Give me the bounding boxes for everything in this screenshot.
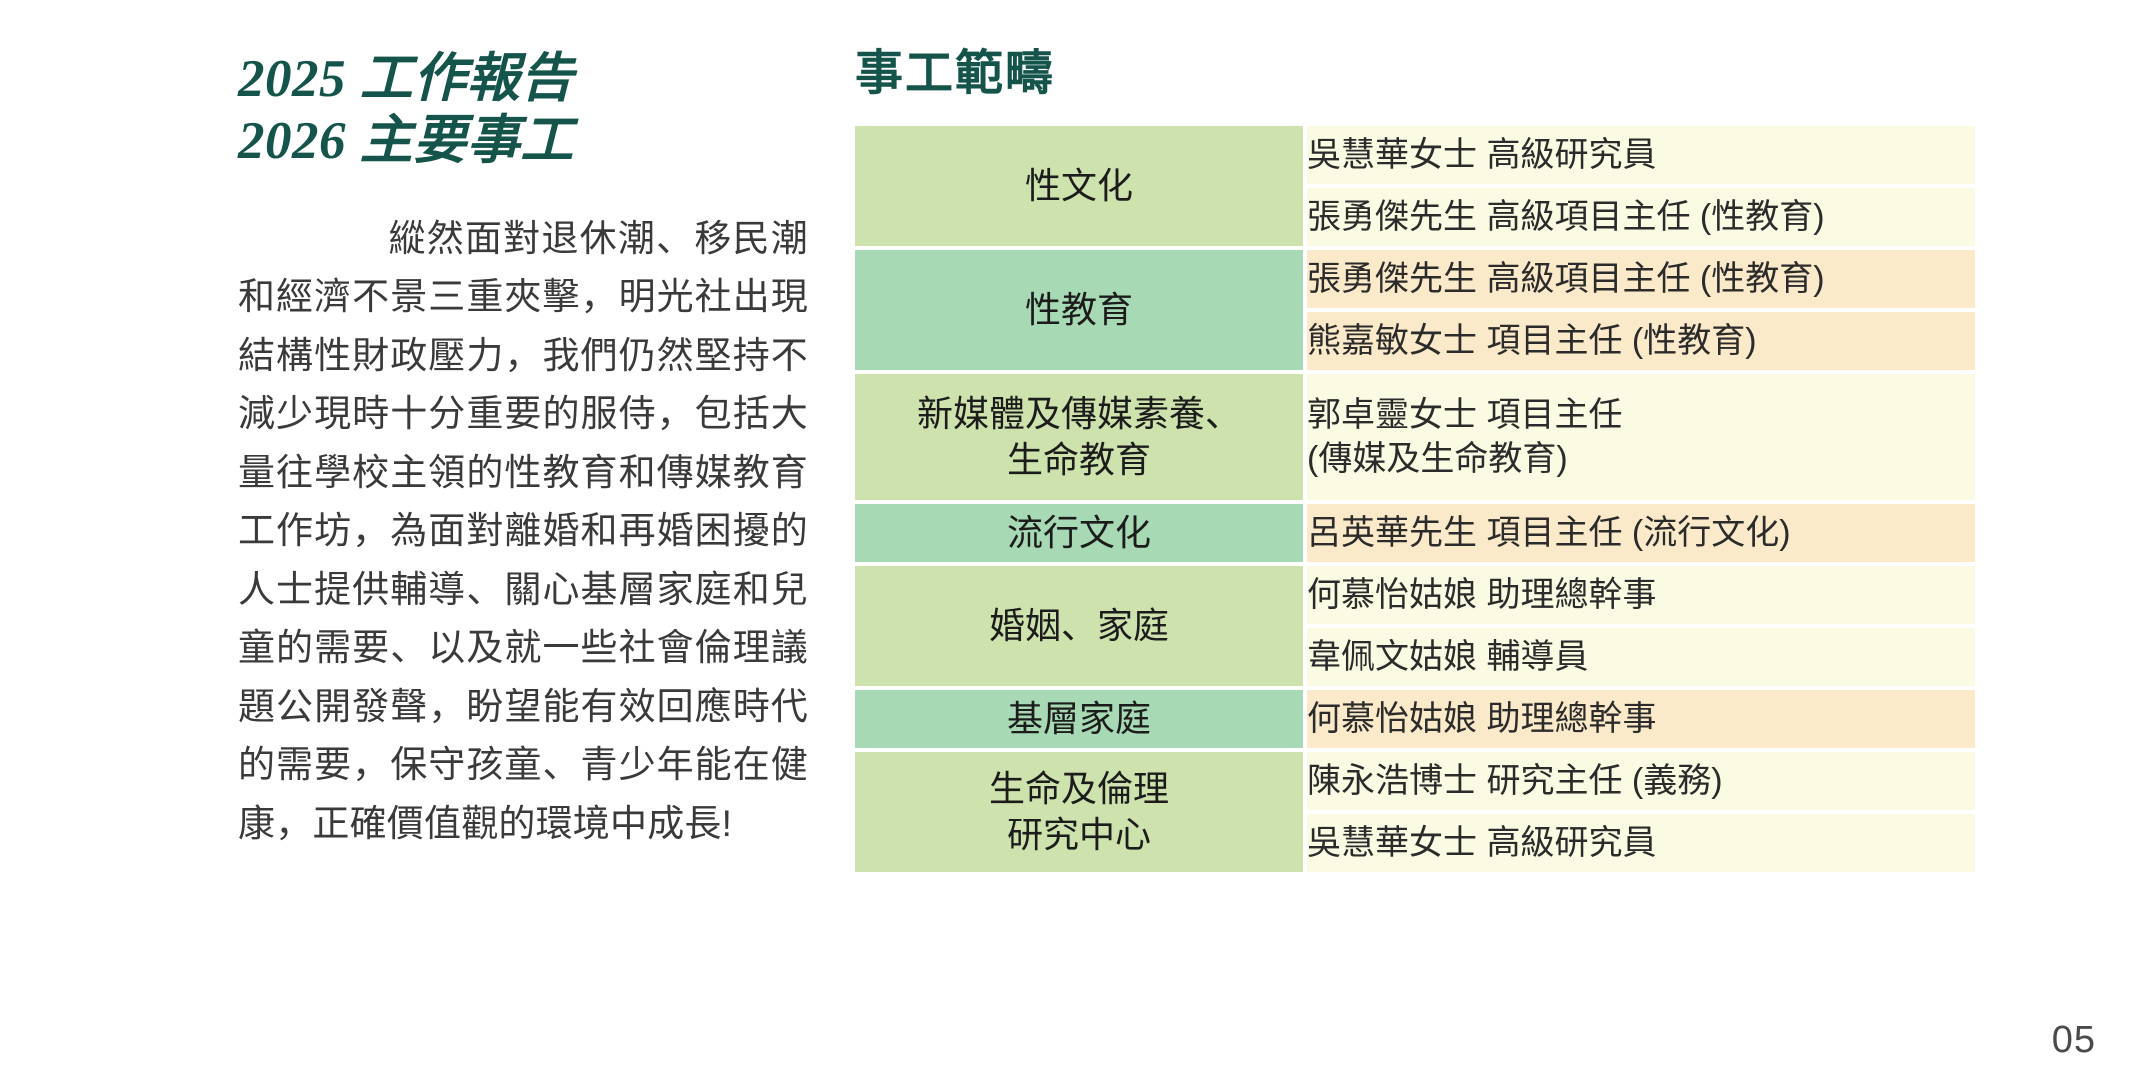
page-title: 2025 工作報告 2026 主要事工 xyxy=(238,48,808,172)
person-name-title: 何慕怡姑娘 助理總幹事 xyxy=(1307,700,1656,738)
section-heading: 事工範疇 xyxy=(855,48,1975,101)
table-row: 流行文化呂英華先生 項目主任 (流行文化) xyxy=(855,504,1975,566)
category-line: 生命及倫理 xyxy=(855,766,1303,812)
table-row: 性文化吳慧華女士 高級研究員 xyxy=(855,126,1975,188)
category-cell: 流行文化 xyxy=(855,504,1307,566)
person-cell: 吳慧華女士 高級研究員 xyxy=(1307,126,1975,188)
table-row: 婚姻、家庭何慕怡姑娘 助理總幹事 xyxy=(855,566,1975,628)
person-name-title: 陳永浩博士 研究主任 (義務) xyxy=(1307,762,1723,800)
ministry-scope-table: 性文化吳慧華女士 高級研究員張勇傑先生 高級項目主任 (性教育)性教育張勇傑先生… xyxy=(855,126,1975,876)
person-name-title: 吳慧華女士 高級研究員 xyxy=(1307,136,1656,174)
person-cell: 吳慧華女士 高級研究員 xyxy=(1307,814,1975,876)
right-column: 事工範疇 性文化吳慧華女士 高級研究員張勇傑先生 高級項目主任 (性教育)性教育… xyxy=(855,48,1975,876)
person-cell: 陳永浩博士 研究主任 (義務) xyxy=(1307,752,1975,814)
category-cell: 基層家庭 xyxy=(855,690,1307,752)
page-title-line-1: 2025 工作報告 xyxy=(238,48,808,110)
person-cell: 熊嘉敏女士 項目主任 (性教育) xyxy=(1307,312,1975,374)
person-name-title: 郭卓靈女士 項目主任 xyxy=(1307,396,1622,434)
person-name-title: 熊嘉敏女士 項目主任 (性教育) xyxy=(1307,322,1757,360)
table-row: 生命及倫理研究中心陳永浩博士 研究主任 (義務) xyxy=(855,752,1975,814)
person-name-title: 吳慧華女士 高級研究員 xyxy=(1307,824,1656,862)
page-title-line-2: 2026 主要事工 xyxy=(238,110,808,172)
person-cell: 張勇傑先生 高級項目主任 (性教育) xyxy=(1307,250,1975,312)
person-name-title: 韋佩文姑娘 輔導員 xyxy=(1307,638,1588,676)
category-line: 新媒體及傳媒素養、 xyxy=(855,391,1303,437)
table-row: 新媒體及傳媒素養、生命教育郭卓靈女士 項目主任(傳媒及生命教育) xyxy=(855,374,1975,504)
category-cell: 新媒體及傳媒素養、生命教育 xyxy=(855,374,1307,504)
person-cell: 韋佩文姑娘 輔導員 xyxy=(1307,628,1975,690)
page-number: 05 xyxy=(2052,1019,2096,1062)
person-cell: 何慕怡姑娘 助理總幹事 xyxy=(1307,566,1975,628)
category-cell: 性教育 xyxy=(855,250,1307,374)
table-row: 基層家庭何慕怡姑娘 助理總幹事 xyxy=(855,690,1975,752)
person-cell: 何慕怡姑娘 助理總幹事 xyxy=(1307,690,1975,752)
person-name-title: 張勇傑先生 高級項目主任 (性教育) xyxy=(1307,198,1825,236)
body-paragraph: 縱然面對退休潮、移民潮和經濟不景三重夾擊，明光社出現結構性財政壓力，我們仍然堅持… xyxy=(238,210,808,853)
person-name-title: 張勇傑先生 高級項目主任 (性教育) xyxy=(1307,260,1825,298)
person-detail: (傳媒及生命教育) xyxy=(1307,437,1975,481)
category-cell: 婚姻、家庭 xyxy=(855,566,1307,690)
table-row: 性教育張勇傑先生 高級項目主任 (性教育) xyxy=(855,250,1975,312)
person-cell: 張勇傑先生 高級項目主任 (性教育) xyxy=(1307,188,1975,250)
category-cell: 性文化 xyxy=(855,126,1307,250)
left-column: 2025 工作報告 2026 主要事工 縱然面對退休潮、移民潮和經濟不景三重夾擊… xyxy=(238,48,808,890)
category-line: 研究中心 xyxy=(855,812,1303,858)
category-cell: 生命及倫理研究中心 xyxy=(855,752,1307,876)
person-name-title: 呂英華先生 項目主任 (流行文化) xyxy=(1307,514,1791,552)
person-cell: 呂英華先生 項目主任 (流行文化) xyxy=(1307,504,1975,566)
person-cell: 郭卓靈女士 項目主任(傳媒及生命教育) xyxy=(1307,374,1975,504)
category-line: 生命教育 xyxy=(855,437,1303,483)
person-name-title: 何慕怡姑娘 助理總幹事 xyxy=(1307,576,1656,614)
